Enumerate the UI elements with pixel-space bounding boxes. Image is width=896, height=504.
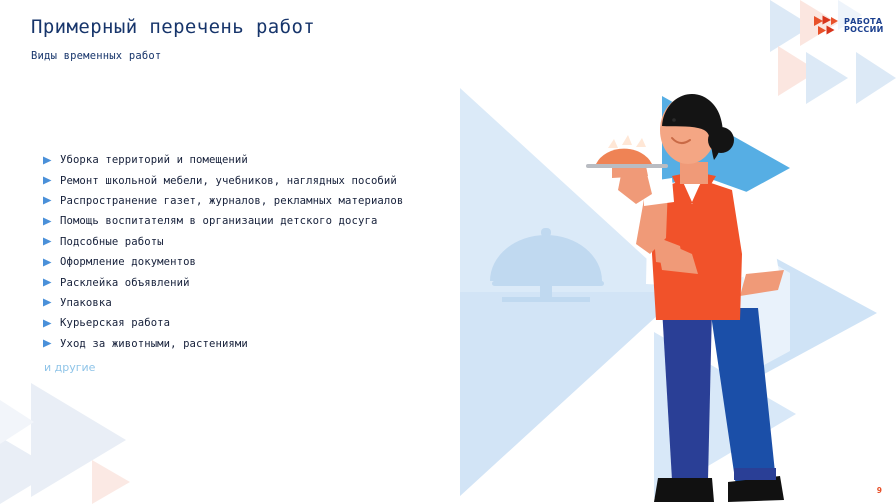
triangle-right-icon <box>42 297 53 308</box>
slide-content: Примерный перечень работ Виды временных … <box>0 0 896 504</box>
list-item: Уборка территорий и помещений <box>42 150 512 170</box>
triangle-right-icon <box>42 236 53 247</box>
triangle-right-icon <box>42 318 53 329</box>
triangle-right-icon <box>42 195 53 206</box>
list-item-label: Помощь воспитателям в организации детско… <box>60 215 377 227</box>
list-item-label: Распространение газет, журналов, рекламн… <box>60 195 403 207</box>
triangle-right-icon <box>42 175 53 186</box>
list-item: Курьерская работа <box>42 313 512 333</box>
list-item-label: Расклейка объявлений <box>60 277 190 289</box>
list-item-label: Уборка территорий и помещений <box>60 154 248 166</box>
list-item: Уход за животными, растениями <box>42 334 512 354</box>
list-footnote: и другие <box>44 361 95 374</box>
list-item-label: Подсобные работы <box>60 236 164 248</box>
rabota-rossii-logo[interactable]: РАБОТА РОССИИ <box>814 13 886 39</box>
list-item: Распространение газет, журналов, рекламн… <box>42 191 512 211</box>
work-types-list: Уборка территорий и помещенийРемонт школ… <box>42 150 512 354</box>
list-item-label: Ремонт школьной мебели, учебников, нагля… <box>60 175 397 187</box>
triangle-right-icon <box>42 155 53 166</box>
triangle-right-icon <box>42 277 53 288</box>
list-item: Помощь воспитателям в организации детско… <box>42 211 512 231</box>
list-item: Расклейка объявлений <box>42 272 512 292</box>
logo-line-2: РОССИИ <box>844 26 884 34</box>
list-item-label: Курьерская работа <box>60 317 170 329</box>
page-subtitle: Виды временных работ <box>31 50 161 62</box>
list-item: Ремонт школьной мебели, учебников, нагля… <box>42 170 512 190</box>
rabota-rossii-wordmark: РАБОТА РОССИИ <box>844 18 884 35</box>
list-item: Упаковка <box>42 293 512 313</box>
list-item-label: Оформление документов <box>60 256 196 268</box>
triangle-right-icon <box>42 257 53 268</box>
triangle-right-icon <box>42 338 53 349</box>
triangle-right-icon <box>42 216 53 227</box>
list-item: Подсобные работы <box>42 232 512 252</box>
slide-root: Примерный перечень работ Виды временных … <box>0 0 896 504</box>
page-number: 9 <box>877 486 882 495</box>
list-item-label: Упаковка <box>60 297 112 309</box>
rabota-rossii-triangles-icon <box>814 15 839 37</box>
page-title: Примерный перечень работ <box>31 16 315 38</box>
list-item: Оформление документов <box>42 252 512 272</box>
list-item-label: Уход за животными, растениями <box>60 338 248 350</box>
